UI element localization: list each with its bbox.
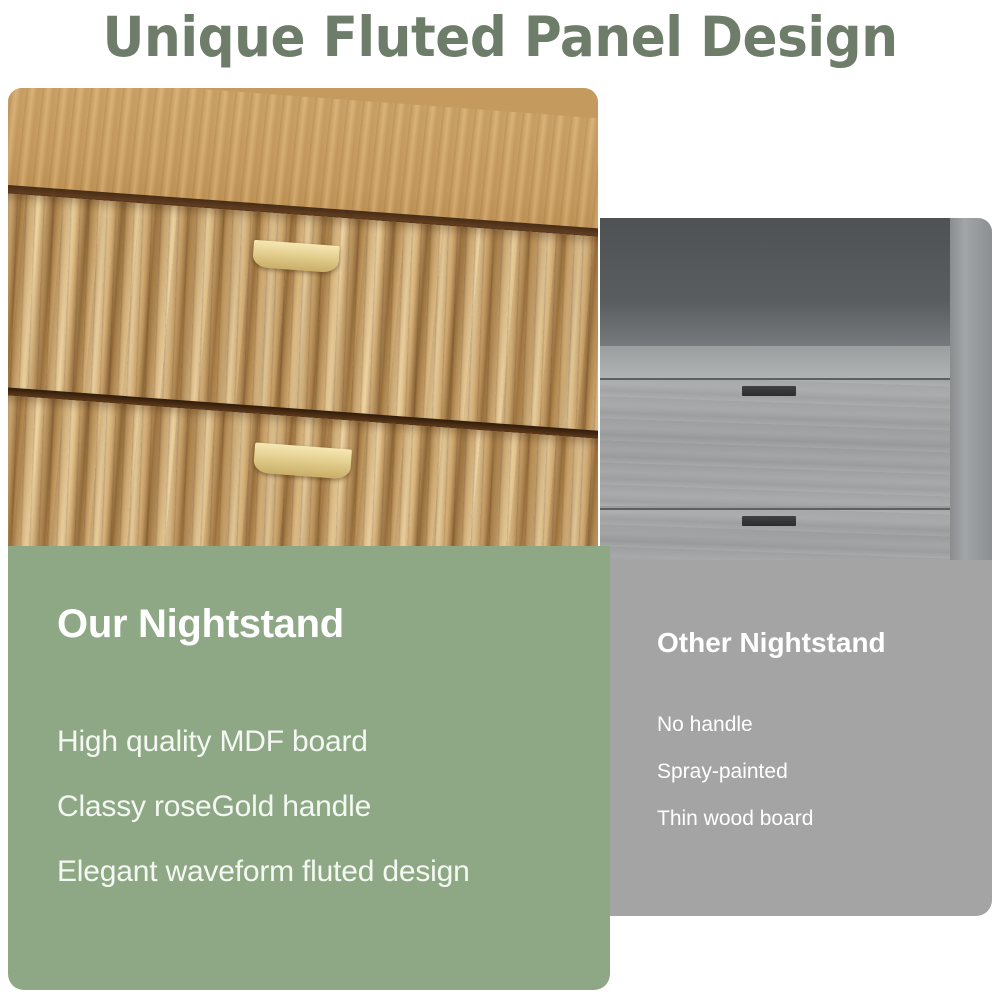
our-nightstand-title: Our Nightstand — [57, 602, 344, 647]
our-nightstand-photo — [8, 88, 598, 546]
our-nightstand-feature-list: High quality MDF board Classy roseGold h… — [57, 725, 470, 920]
list-item: Elegant waveform fluted design — [57, 855, 470, 889]
black-handle-icon — [742, 386, 796, 396]
other-nightstand-feature-list: No handle Spray-painted Thin wood board — [657, 713, 813, 854]
list-item: Classy roseGold handle — [57, 790, 470, 824]
grey-drawer-front-upper — [600, 378, 950, 506]
grey-cabinet-side-panel — [950, 218, 992, 566]
other-nightstand-title: Other Nightstand — [657, 627, 886, 659]
grey-shelf-floor — [600, 346, 950, 380]
other-nightstand-photo — [600, 218, 992, 566]
black-handle-icon — [742, 516, 796, 526]
list-item: Spray-painted — [657, 760, 813, 784]
page-title: Unique Fluted Panel Design — [30, 2, 970, 74]
list-item: Thin wood board — [657, 807, 813, 831]
list-item: High quality MDF board — [57, 725, 470, 759]
list-item: No handle — [657, 713, 813, 737]
